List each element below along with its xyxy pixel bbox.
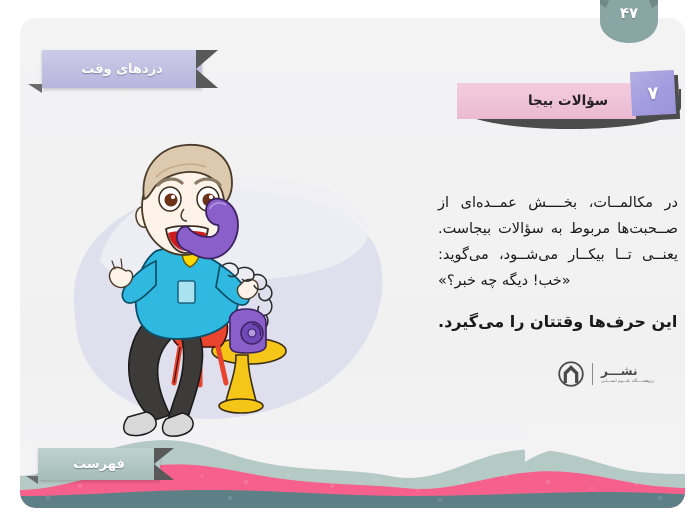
ribbon-time-thieves[interactable]: دزدهای وقت bbox=[24, 48, 220, 92]
page-root: نشـــر پژوهشــــگاه علـــوم انســـانی دز… bbox=[0, 0, 700, 525]
section-title-text: سؤالات بیجا bbox=[528, 93, 608, 109]
publisher-name: نشـــر bbox=[601, 365, 638, 377]
publisher-subtitle: پژوهشــــگاه علـــوم انســـانی bbox=[601, 379, 654, 383]
publisher-logo: نشـــر پژوهشــــگاه علـــوم انســـانی bbox=[558, 356, 658, 392]
section-title-block: سؤالات بیجا ۷ bbox=[457, 83, 679, 127]
publisher-logo-text: نشـــر پژوهشــــگاه علـــوم انســـانی bbox=[601, 365, 654, 383]
spiral-logo-icon bbox=[558, 361, 584, 387]
chapter-number-text: ۷ bbox=[647, 82, 659, 104]
body-conclusion: این حرف‌ها وقتتان را می‌گیرد. bbox=[438, 308, 678, 336]
illustration-rotary-phone bbox=[230, 309, 266, 353]
body-paragraph: در مکالمــات، بخــــش عمــده‌ای از صــحب… bbox=[438, 190, 678, 294]
ribbon-label: فهرست bbox=[38, 448, 160, 480]
chapter-badge-face: ۷ bbox=[630, 70, 676, 116]
ribbon-fold-left bbox=[28, 84, 42, 93]
chapter-number-badge: ۷ bbox=[631, 71, 677, 117]
ribbon-label: دزدهای وقت bbox=[42, 50, 202, 88]
illustration-boy-talking-on-phone bbox=[60, 133, 400, 443]
page-card: نشـــر پژوهشــــگاه علـــوم انســـانی دز… bbox=[20, 18, 685, 508]
page-number-text: ۴۷ bbox=[598, 4, 660, 22]
ribbon-fold-left bbox=[26, 476, 38, 484]
publisher-divider bbox=[592, 363, 593, 385]
ribbon-contents-link[interactable]: فهرست bbox=[24, 446, 184, 486]
page-number-tab: ۴۷ bbox=[598, 0, 660, 44]
body-text-block: در مکالمــات، بخــــش عمــده‌ای از صــحب… bbox=[438, 190, 678, 336]
